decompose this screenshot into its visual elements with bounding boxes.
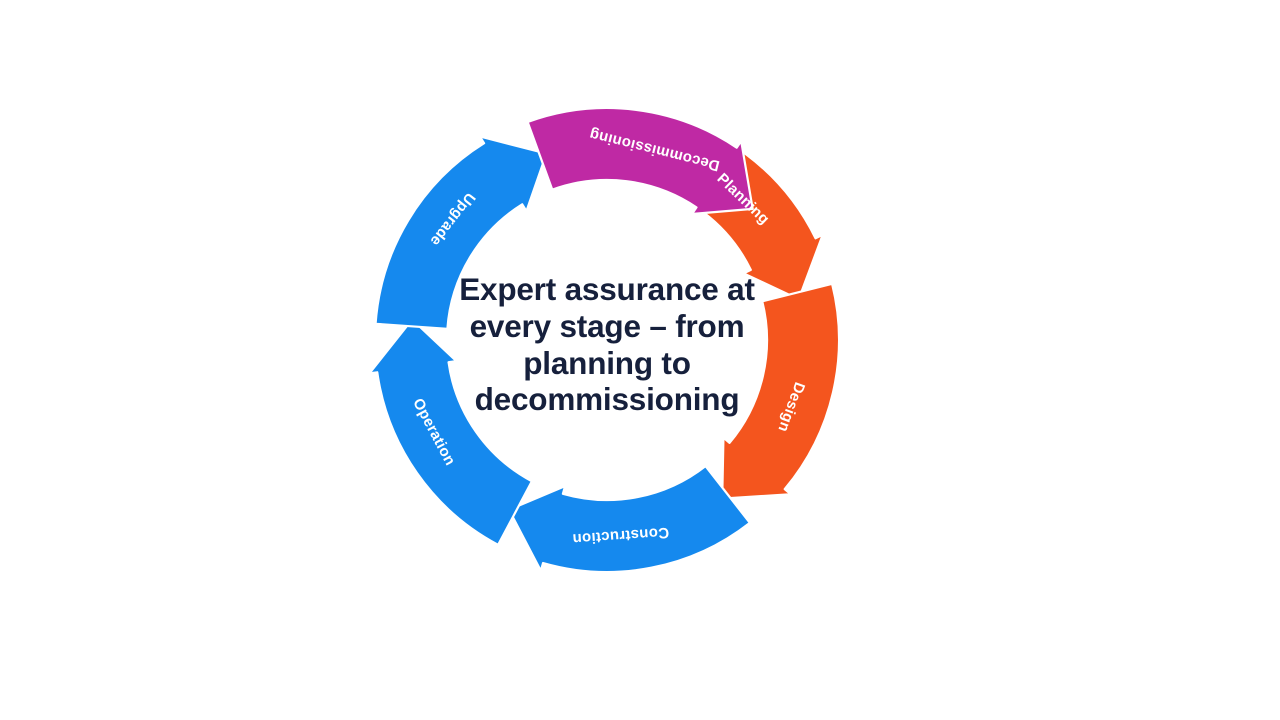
- cycle-segment-operation[interactable]: [369, 320, 532, 545]
- diagram-canvas: PlanningDesignConstructionOperationUpgra…: [0, 0, 1280, 720]
- cycle-segments-group: [369, 108, 839, 572]
- cycle-segment-design[interactable]: [722, 284, 839, 499]
- cycle-diagram: PlanningDesignConstructionOperationUpgra…: [0, 0, 1280, 720]
- cycle-segment-upgrade[interactable]: [376, 136, 547, 328]
- cycle-segment-construction[interactable]: [509, 466, 750, 572]
